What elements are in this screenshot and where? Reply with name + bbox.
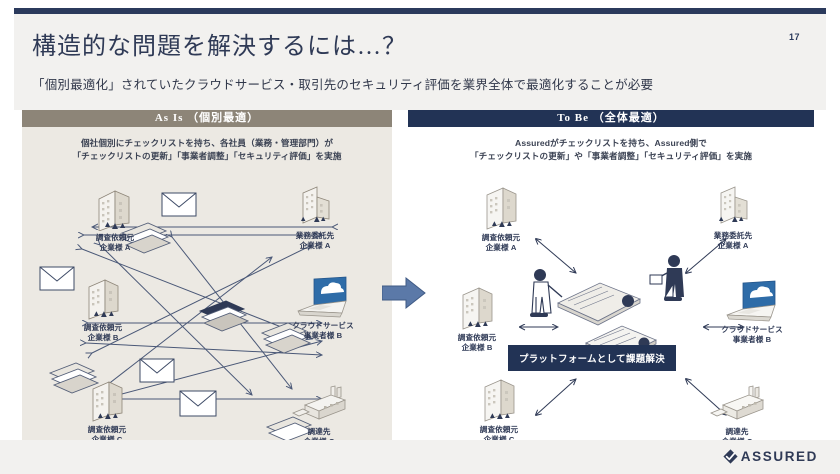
to-be-node-6[interactable]: 調達先企業様 C — [694, 379, 780, 440]
to-be-node-3-label: 調査依頼元企業様 B — [434, 333, 520, 354]
as-is-node-1[interactable]: 調査依頼元企業様 A — [72, 185, 158, 254]
to-be-panel-heading: To Be （全体最適） — [408, 110, 814, 127]
to-be-node-5-label: 調査依頼元企業様 C — [456, 425, 542, 440]
as-is-node-6[interactable]: 調達先企業様 C — [276, 379, 362, 440]
office-building-icon — [456, 377, 542, 423]
factory-icon — [694, 379, 780, 425]
office-building-icon — [458, 185, 544, 231]
factory-icon — [276, 379, 362, 425]
as-is-description-line1: 個社個別にチェックリストを持ち、各社員（業務・管理部門）が — [22, 137, 392, 150]
laptop-cloud-icon — [704, 277, 800, 323]
as-is-node-4-label: クラウドサービス事業者様 B — [275, 321, 371, 342]
to-be-node-5[interactable]: 調査依頼元企業様 C — [456, 377, 542, 440]
to-be-panel-body: Assuredがチェックリストを持ち、Assured側で 「チェックリストの更新… — [408, 127, 814, 440]
as-is-description-line2: 「チェックリストの更新」「事業者調整」「セキュリティ評価」を実施 — [22, 150, 392, 163]
to-be-description-line1: Assuredがチェックリストを持ち、Assured側で — [408, 137, 814, 150]
laptop-cloud-icon — [275, 273, 371, 319]
page-title: 構造的な問題を解決するには…？ — [32, 26, 407, 61]
page-number: 17 — [789, 32, 800, 42]
office-building-icon — [434, 285, 520, 331]
as-is-node-2[interactable]: 業務委託先企業様 A — [272, 183, 358, 252]
to-be-description: Assuredがチェックリストを持ち、Assured側で 「チェックリストの更新… — [408, 137, 814, 164]
slide-body: As Is （個別最適） 個社個別にチェックリストを持ち、各社員（業務・管理部門… — [0, 110, 840, 440]
to-be-node-1[interactable]: 調査依頼元企業様 A — [458, 185, 544, 254]
as-is-panel-heading: As Is （個別最適） — [22, 110, 392, 127]
as-is-node-3[interactable]: 調査依頼元企業様 B — [60, 275, 146, 344]
to-be-node-1-label: 調査依頼元企業様 A — [458, 233, 544, 254]
office-building-icon — [60, 275, 146, 321]
as-is-node-2-label: 業務委託先企業様 A — [272, 231, 358, 252]
slide-footer — [0, 440, 840, 474]
to-be-node-6-label: 調達先企業様 C — [694, 427, 780, 440]
platform-badge: プラットフォームとして課題解決 — [508, 345, 676, 371]
as-is-node-3-label: 調査依頼元企業様 B — [60, 323, 146, 344]
assured-logo: ASSURED — [723, 449, 818, 464]
assured-diamond-check-icon — [723, 449, 738, 464]
as-is-node-4[interactable]: クラウドサービス事業者様 B — [275, 273, 371, 342]
as-is-node-5[interactable]: 調査依頼元企業様 C — [64, 377, 150, 440]
as-is-panel: As Is （個別最適） 個社個別にチェックリストを持ち、各社員（業務・管理部門… — [22, 110, 392, 440]
right-block-arrow-icon — [382, 276, 426, 310]
to-be-node-4[interactable]: クラウドサービス事業者様 B — [704, 277, 800, 346]
to-be-node-3[interactable]: 調査依頼元企業様 B — [434, 285, 520, 354]
as-is-panel-body: 個社個別にチェックリストを持ち、各社員（業務・管理部門）が 「チェックリストの更… — [22, 127, 392, 440]
as-is-node-6-label: 調達先企業様 C — [276, 427, 362, 440]
to-be-description-line2: 「チェックリストの更新」や「事業者調整」「セキュリティ評価」を実施 — [408, 150, 814, 163]
slide-canvas: 17 構造的な問題を解決するには…？ 「個別最適化」されていたクラウドサービス・… — [0, 0, 840, 474]
platform-badge-prefix: プラットフォームとして — [519, 353, 626, 364]
as-is-node-5-label: 調査依頼元企業様 C — [64, 425, 150, 440]
to-be-node-2[interactable]: 業務委託先企業様 A — [690, 183, 776, 252]
platform-badge-emphasis: 課題解決 — [626, 353, 665, 364]
office-building-icon — [690, 183, 776, 229]
to-be-panel: To Be （全体最適） Assuredがチェックリストを持ち、Assured側… — [408, 110, 814, 440]
assured-logo-text: ASSURED — [741, 449, 818, 464]
to-be-node-4-label: クラウドサービス事業者様 B — [704, 325, 800, 346]
page-subtitle: 「個別最適化」されていたクラウドサービス・取引先のセキュリティ評価を業界全体で最… — [32, 74, 653, 93]
as-is-node-1-label: 調査依頼元企業様 A — [72, 233, 158, 254]
office-building-icon — [72, 185, 158, 231]
office-building-icon — [272, 183, 358, 229]
as-is-description: 個社個別にチェックリストを持ち、各社員（業務・管理部門）が 「チェックリストの更… — [22, 137, 392, 164]
to-be-node-2-label: 業務委託先企業様 A — [690, 231, 776, 252]
office-building-icon — [64, 377, 150, 423]
